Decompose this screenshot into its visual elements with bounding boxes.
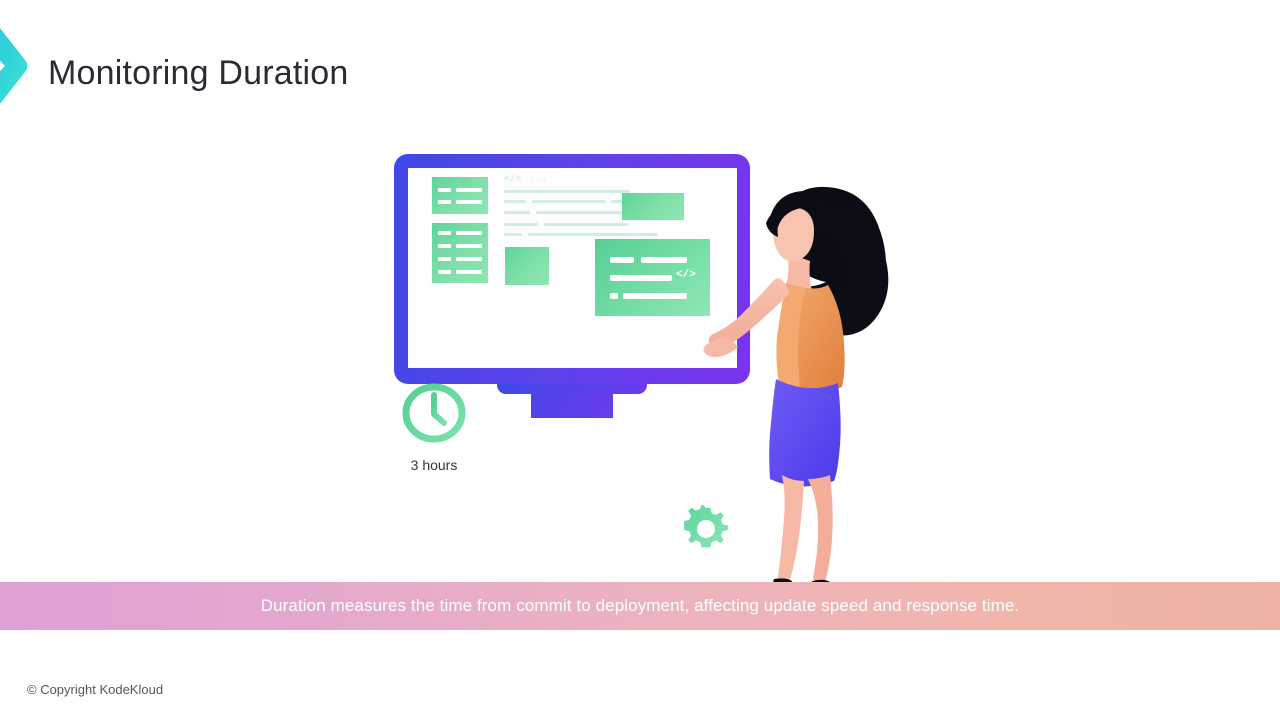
- monitor-screen: </> ...: [408, 168, 737, 368]
- caption-text: Duration measures the time from commit t…: [261, 596, 1020, 616]
- screen-text-line: [504, 200, 526, 203]
- page-title: Monitoring Duration: [48, 54, 349, 93]
- screen-text-line: [532, 200, 606, 203]
- illustration-stage: </> ...: [0, 130, 1280, 550]
- caption-bar: Duration measures the time from commit t…: [0, 582, 1280, 630]
- screen-list-block-top: [432, 177, 488, 214]
- screen-list-block-bottom: [432, 223, 488, 283]
- woman-pointing-at-screen-illustration: [690, 175, 910, 640]
- screen-text-line: [504, 233, 522, 236]
- clock-duration-label: 3 hours: [400, 457, 468, 473]
- screen-text-line: [528, 233, 658, 236]
- screen-text-line: [544, 223, 628, 226]
- slide-root: Monitoring Duration: [0, 0, 1280, 720]
- screen-text-line: [536, 211, 628, 214]
- screen-green-rect-top-right: [622, 193, 684, 220]
- clock-icon: [400, 382, 468, 444]
- clock-widget: 3 hours: [400, 382, 468, 473]
- screen-code-ellipsis: ...: [530, 174, 548, 184]
- screen-text-line: [504, 211, 530, 214]
- chevron-right-logo-icon: [0, 16, 40, 116]
- screen-text-line: [504, 223, 538, 226]
- screen-text-line: [504, 190, 630, 193]
- screen-code-tag: </>: [504, 174, 522, 184]
- copyright-footer: © Copyright KodeKloud: [27, 682, 163, 697]
- screen-green-square: [505, 247, 549, 285]
